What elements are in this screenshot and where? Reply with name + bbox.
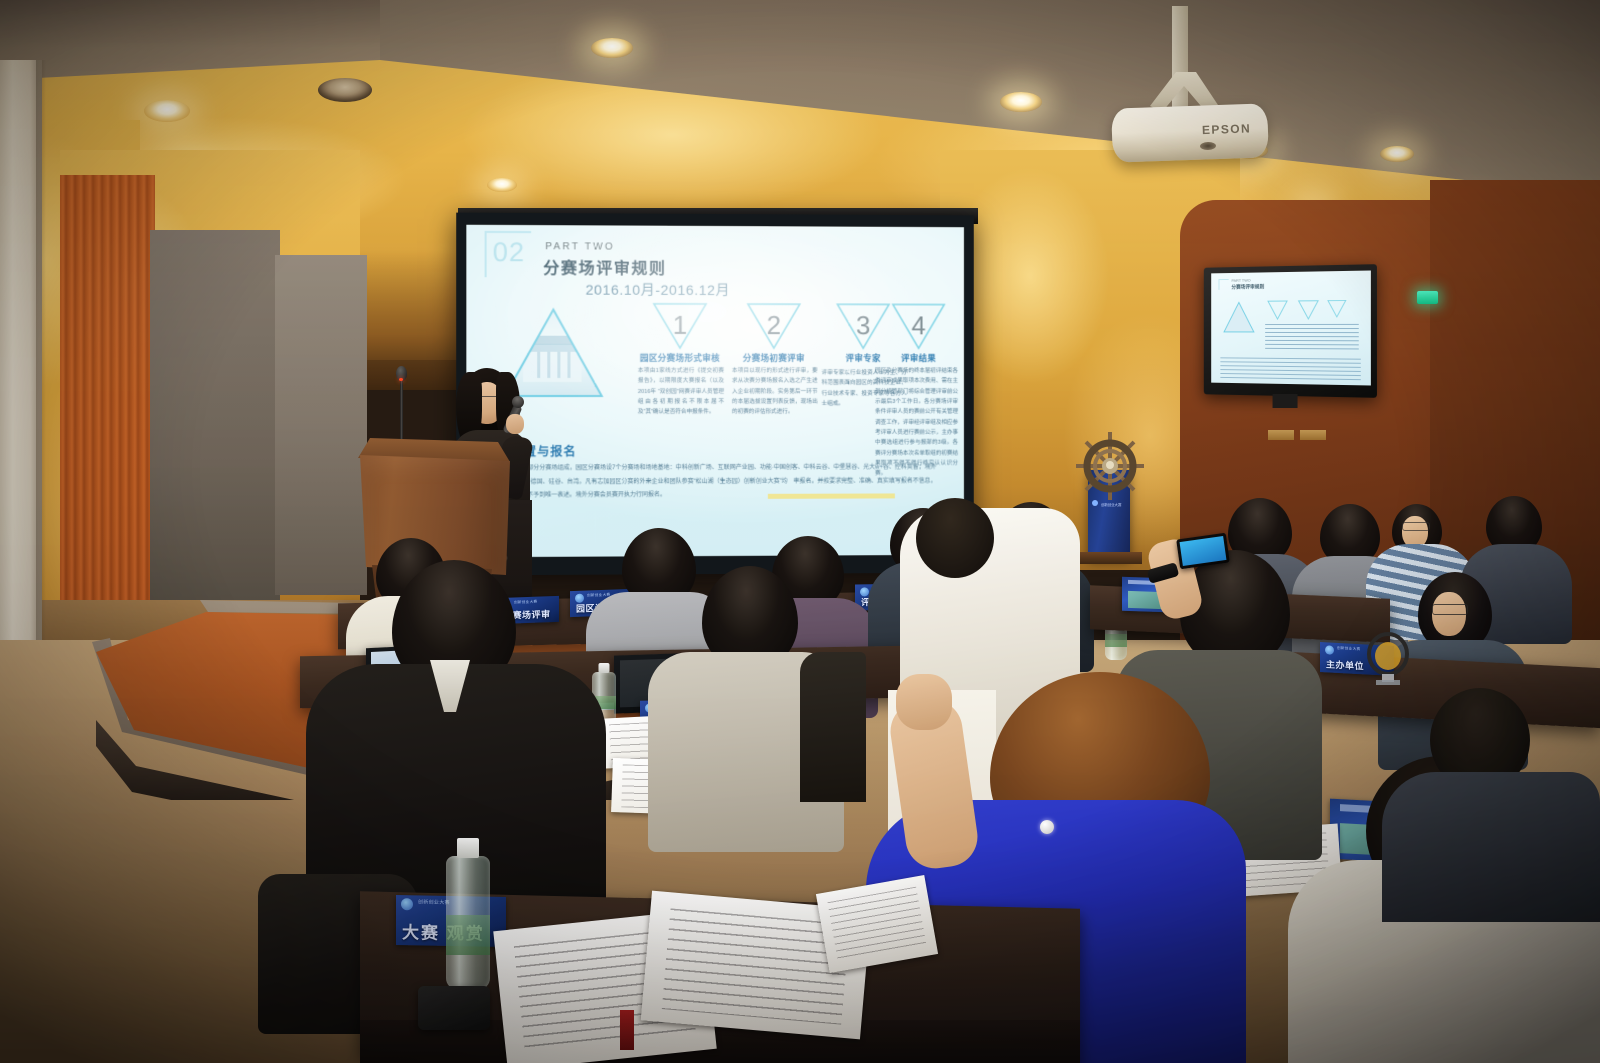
wood-slat-panel-left — [60, 175, 155, 605]
monitor-slide-bracket — [1219, 279, 1229, 290]
nameplate-logo-icon — [401, 898, 413, 910]
attendee-torso-right-mid — [1382, 772, 1600, 922]
presenter-hand — [506, 414, 524, 434]
slide-step-digit-1: 1 — [652, 310, 708, 341]
ship-wheel-icon — [1072, 428, 1148, 504]
water-bottle-foreground — [446, 856, 490, 990]
projector-ceiling-mount — [1172, 6, 1188, 114]
wall-monitor-screen: PART TWO 分赛场评审规则 — [1211, 271, 1371, 386]
wall-plaque — [1300, 430, 1326, 440]
ceiling-downlight — [144, 100, 190, 122]
slide-section-en: PART TWO — [545, 241, 615, 252]
monitor-slide-section-en: PART TWO — [1231, 278, 1250, 283]
attendee-shoulder-strap — [800, 652, 866, 802]
ceiling-downlight — [487, 178, 517, 192]
wall-monitor-stand — [1273, 394, 1298, 408]
slide-step-body-1: 本项由1家线方式进行《提交初赛报告》，以期限度大赛报名（以及2016年 “双创园… — [638, 366, 724, 418]
slide-step-digit-2: 2 — [746, 310, 802, 341]
wall-door-panel-left — [275, 255, 367, 595]
slide-step-label-4: 评审结果 — [871, 352, 964, 364]
slide-date-range: 2016.10月-2016.12月 — [586, 280, 730, 300]
pen — [620, 1010, 634, 1050]
ceiling-downlight — [591, 38, 633, 58]
monitor-step-triangle-2 — [1298, 300, 1319, 325]
nameplate-subtitle: 创新创业大赛 — [1337, 646, 1360, 652]
microphone-led-indicator — [399, 378, 403, 381]
projector-brand-label: EPSON — [1202, 121, 1266, 137]
earring — [1040, 820, 1054, 834]
nameplate-subtitle: 创新创业大赛 — [514, 600, 537, 606]
bottle-cap — [599, 663, 610, 673]
bottle-label — [1105, 634, 1127, 646]
monitor-slide-section-cn: 分赛场评审规则 — [1231, 283, 1264, 290]
blue-woman-hand — [896, 674, 952, 730]
glasses-icon — [1402, 522, 1430, 531]
glasses-icon — [1432, 604, 1468, 615]
monitor-step-body-block — [1265, 324, 1359, 353]
monitor-photo-triangle — [1222, 300, 1256, 339]
wall-plaque — [1268, 430, 1294, 440]
slide-highlight-bar — [768, 493, 895, 498]
bottle-cap — [457, 838, 479, 858]
exit-sign-icon — [1417, 291, 1438, 304]
nameplate-logo-icon — [1325, 645, 1334, 654]
monitor-step-triangle-3 — [1327, 299, 1347, 322]
smartphone-screen — [1180, 536, 1227, 566]
helm-wooden-base — [1076, 552, 1142, 564]
smartphone-on-table — [418, 986, 490, 1030]
attendee-head-white-shawl — [916, 498, 994, 578]
slide-step-label-2: 分赛场初赛评审 — [726, 352, 822, 364]
ceiling-vent — [318, 78, 372, 102]
bottle-label — [446, 915, 490, 955]
gooseneck-microphone-pole — [400, 372, 403, 450]
ceiling-downlight — [1000, 92, 1042, 112]
slide-section-cn: 分赛场评审规则 — [543, 254, 666, 279]
monitor-bottom-body-block — [1220, 357, 1360, 381]
conference-room-photo: EPSON 02 PART TWO 分赛场评审规则 2016.10月-2016.… — [0, 0, 1600, 1063]
slide-step-digit-3: 3 — [835, 310, 890, 341]
slide-section-number: 02 — [493, 237, 525, 268]
ceiling-downlight — [1380, 146, 1414, 162]
wall-gray-panel-left — [150, 230, 280, 620]
slide-step-label-1: 园区分赛场形式审核 — [632, 352, 728, 364]
slide-step-body-2: 本项目以现行的形式进行评审，要求从决赛分赛场报名入选之产生进入企业初期阶段。实务… — [732, 366, 818, 418]
slide-step-digit-4: 4 — [891, 310, 946, 341]
document-text-lines — [827, 886, 927, 963]
presentation-slide: 02 PART TWO 分赛场评审规则 2016.10月-2016.12月 — [466, 225, 964, 557]
award-trophy — [1366, 632, 1410, 686]
monitor-step-triangle-1 — [1267, 300, 1288, 325]
